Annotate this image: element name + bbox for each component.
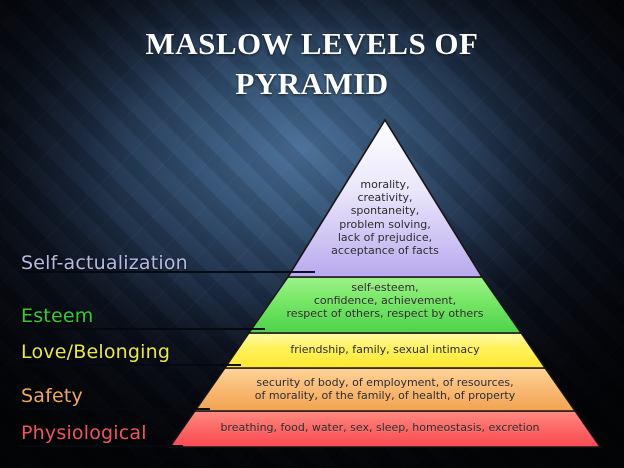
level-label-love-belonging: Love/Belonging (21, 341, 170, 363)
leader-line-safety (20, 408, 210, 410)
page-title: MASLOW LEVELS OF PYRAMID MASLOW LEVELS O… (0, 24, 624, 104)
band-text-self-actualization: morality, creativity, spontaneity, probl… (285, 178, 485, 257)
level-label-physiological: Physiological (21, 422, 147, 444)
level-label-safety: Safety (21, 385, 83, 407)
level-label-esteem: Esteem (21, 305, 93, 327)
band-text-love-belonging: friendship, family, sexual intimacy (255, 343, 515, 356)
leader-line-physiological (20, 445, 183, 447)
leader-line-love-belonging (20, 364, 241, 366)
band-text-safety: security of body, of employment, of reso… (215, 376, 555, 402)
band-text-physiological: breathing, food, water, sex, sleep, home… (180, 421, 580, 434)
band-text-esteem: self-esteem, confidence, achievement, re… (265, 281, 505, 321)
level-label-self-actualization: Self-actualization (21, 252, 188, 274)
leader-line-esteem (20, 328, 265, 330)
title-line-second: PYRAMID (235, 66, 388, 101)
title-line-first: MASLOW LEVELS OF (145, 26, 478, 61)
maslow-pyramid-slide: MASLOW LEVELS OF PYRAMID MASLOW LEVELS O… (0, 0, 624, 468)
